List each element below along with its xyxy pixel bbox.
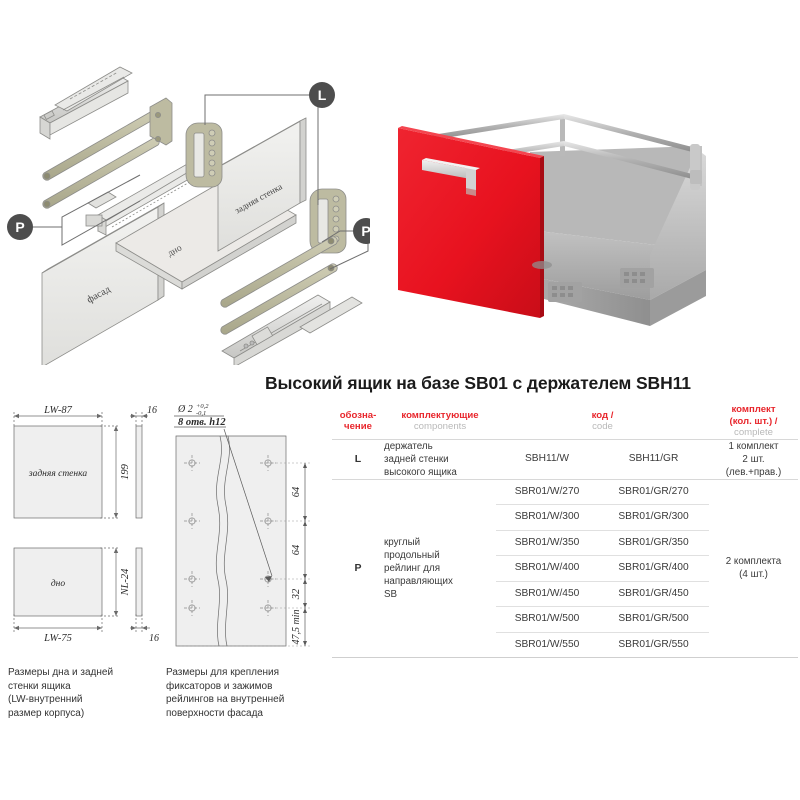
- dim-bottom-thickness: 16: [149, 633, 159, 644]
- cell-code-white: SBR01/W/270: [496, 479, 598, 505]
- complete-line: 1 комплект: [709, 440, 798, 453]
- col-header-complete-ru-1: комплект: [709, 404, 798, 416]
- cell-designation-p: P: [332, 479, 384, 658]
- dim-hole-64-top: 64: [291, 486, 302, 497]
- callout-p-right: P: [353, 218, 370, 244]
- dim-hole-64-mid: 64: [291, 544, 302, 555]
- cell-code-white: SBR01/W/400: [496, 556, 598, 582]
- caption-line: фиксаторов и зажимов: [166, 680, 331, 694]
- col-header-designation: обозна- чение: [332, 404, 384, 439]
- cell-component-l: держатель задней стенки высокого ящика: [384, 439, 496, 479]
- cell-code-gray: SBR01/GR/270: [598, 479, 709, 505]
- cell-code-gray: SBR01/GR/300: [598, 505, 709, 531]
- caption-line: Размеры для крепления: [166, 666, 331, 680]
- cell-code-gray: SBR01/GR/500: [598, 607, 709, 633]
- front-panel-red: [398, 126, 544, 318]
- component-line: круглый: [384, 536, 496, 549]
- complete-line: 2 комплекта: [709, 555, 798, 568]
- cell-code-white: SBR01/W/500: [496, 607, 598, 633]
- cell-code-gray-l: SBH11/GR: [598, 439, 709, 479]
- table-body: L держатель задней стенки высокого ящика…: [332, 439, 798, 658]
- col-header-designation-ru-1: обозна-: [332, 410, 384, 422]
- component-line: задней стенки: [384, 453, 496, 466]
- caption-panel-dimensions: Размеры дна и задней стенки ящика (LW-вн…: [8, 666, 158, 720]
- caption-line: поверхности фасада: [166, 707, 331, 721]
- caption-line: стенки ящика: [8, 680, 158, 694]
- component-line: высокого ящика: [384, 466, 496, 479]
- complete-line: (4 шт.): [709, 568, 798, 581]
- holder-l-top: [186, 123, 222, 187]
- cell-code-white: SBR01/W/300: [496, 505, 598, 531]
- svg-text:P: P: [361, 223, 370, 239]
- product-photo-drawer: [380, 100, 800, 350]
- dim-hole-475-min: 47,5 min: [291, 610, 302, 645]
- col-header-components-en: components: [384, 421, 496, 433]
- table-head: обозна- чение комплектующие components к…: [332, 404, 798, 439]
- label-bottom-drawing: дно: [51, 578, 66, 589]
- complete-line: (лев.+прав.): [709, 466, 798, 479]
- dim-back-wall-height: 199: [120, 463, 131, 480]
- exploded-assembly-diagram: фасад дно: [0, 55, 370, 365]
- slide-runner-right: [222, 295, 362, 365]
- col-header-complete-en: complete: [709, 427, 798, 439]
- caption-line: (LW-внутренний: [8, 693, 158, 707]
- cell-complete-p: 2 комплекта (4 шт.): [709, 479, 798, 658]
- product-spec-sheet: фасад дно: [0, 0, 800, 800]
- complete-line: 2 шт.: [709, 453, 798, 466]
- col-header-code: код / code: [496, 404, 709, 439]
- page-title: Высокий ящик на базе SB01 с держателем S…: [265, 373, 795, 394]
- note-tolerance-upper: +0,2: [196, 403, 209, 410]
- table-row: P круглый продольный рейлинг для направл…: [332, 479, 798, 505]
- svg-text:L: L: [318, 87, 327, 103]
- components-table: обозна- чение комплектующие components к…: [332, 404, 798, 658]
- cell-code-white: SBR01/W/450: [496, 581, 598, 607]
- cell-code-gray: SBR01/GR/350: [598, 530, 709, 556]
- cell-designation-l: L: [332, 439, 384, 479]
- note-hole-diameter: Ø 2: [177, 404, 193, 415]
- cell-complete-l: 1 комплект 2 шт. (лев.+прав.): [709, 439, 798, 479]
- caption-hole-pattern: Размеры для крепления фиксаторов и зажим…: [166, 666, 331, 720]
- cell-component-p: круглый продольный рейлинг для направляю…: [384, 479, 496, 658]
- dim-back-wall-thickness: 16: [147, 405, 157, 416]
- component-line: SB: [384, 588, 496, 601]
- col-header-complete-ru-2: (кол. шт.) /: [709, 416, 798, 428]
- col-header-components: комплектующие components: [384, 404, 496, 439]
- label-back-wall-drawing: задняя стенка: [28, 468, 87, 479]
- cell-code-gray: SBR01/GR/450: [598, 581, 709, 607]
- dim-hole-32: 32: [291, 588, 302, 600]
- component-line: направляющих: [384, 575, 496, 588]
- table-row: L держатель задней стенки высокого ящика…: [332, 439, 798, 479]
- col-header-code-ru: код /: [496, 410, 709, 422]
- col-header-complete: комплект (кол. шт.) / complete: [709, 404, 798, 439]
- callout-p-left: P: [7, 214, 33, 240]
- svg-text:P: P: [15, 219, 24, 235]
- hole-pattern-drawing: Ø 2 +0,2 -0,1 8 отв. h12 64 64 32 47,5 m…: [162, 396, 332, 651]
- col-header-designation-ru-2: чение: [332, 421, 384, 433]
- col-header-components-ru: комплектующие: [384, 410, 496, 422]
- callout-l-top: L: [309, 82, 335, 108]
- panel-dimension-drawing: LW-87 задняя стенка 199 16 дно NL-24 LW-…: [0, 396, 165, 646]
- cell-code-white: SBR01/W/350: [496, 530, 598, 556]
- caption-line: Размеры дна и задней: [8, 666, 158, 680]
- note-hole-count: 8 отв. h12: [178, 417, 226, 428]
- dim-back-wall-width: LW-87: [43, 405, 73, 416]
- component-line: рейлинг для: [384, 562, 496, 575]
- slide-runner-left: [40, 67, 132, 139]
- component-line: держатель: [384, 440, 496, 453]
- dim-bottom-width: LW-75: [43, 633, 72, 644]
- cell-code-white: SBR01/W/550: [496, 632, 598, 658]
- component-line: продольный: [384, 549, 496, 562]
- back-wall-edge: [136, 426, 142, 518]
- cell-code-gray: SBR01/GR/400: [598, 556, 709, 582]
- caption-line: размер корпуса): [8, 707, 158, 721]
- dim-bottom-depth: NL-24: [120, 568, 131, 597]
- col-header-code-en: code: [496, 421, 709, 433]
- facade-fragment: [176, 436, 286, 646]
- caption-line: рейлингов на внутренней: [166, 693, 331, 707]
- cell-code-gray: SBR01/GR/550: [598, 632, 709, 658]
- bottom-edge: [136, 548, 142, 616]
- note-tolerance-lower: -0,1: [196, 410, 206, 417]
- cell-code-white-l: SBH11/W: [496, 439, 598, 479]
